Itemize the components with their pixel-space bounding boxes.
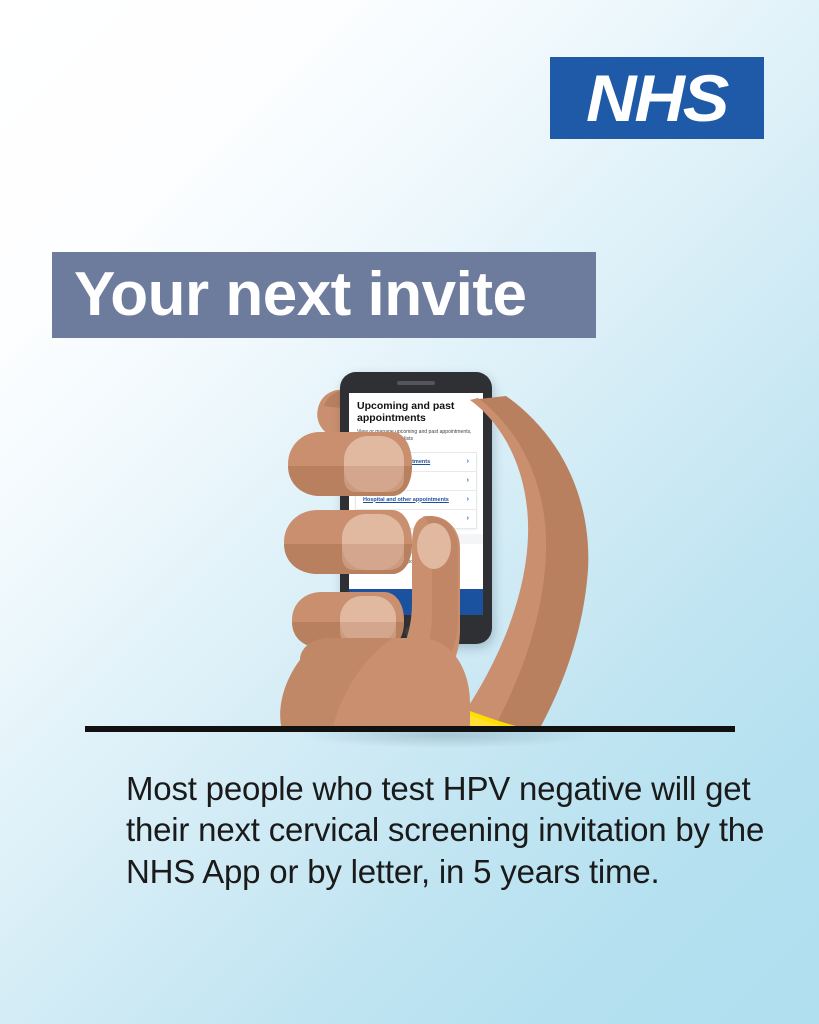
- app-row-label: Hospital and other appointments: [363, 497, 449, 503]
- body-paragraph: Most people who test HPV negative will g…: [126, 768, 766, 892]
- nav-item-messages[interactable]: ✉ Messages: [440, 596, 456, 609]
- smartphone: Upcoming and past appointments View or m…: [340, 372, 492, 644]
- app-screen-subtitle: View or manage upcoming and past appoint…: [357, 429, 475, 444]
- list-item[interactable]: GP surgery appointments ›: [356, 453, 476, 472]
- nhs-logo: NHS: [550, 57, 764, 139]
- chevron-right-icon: ›: [467, 515, 469, 522]
- app-section-divider: [349, 534, 483, 544]
- app-lower-text: Not available for all appointments and o…: [357, 559, 475, 573]
- ground-line: [85, 726, 735, 732]
- hand-holding-phone-illustration: Upcoming and past appointments View or m…: [0, 330, 819, 750]
- app-screen-title: Upcoming and past appointments: [357, 400, 475, 425]
- list-item[interactable]: Referrals ›: [356, 472, 476, 491]
- phone-speaker-grille: [397, 381, 435, 385]
- chevron-right-icon: ›: [467, 458, 469, 465]
- phone-home-button: [405, 626, 427, 638]
- app-lower-section: Appointments Not available for all appoi…: [349, 544, 483, 575]
- heart-icon: ♥: [382, 596, 387, 604]
- nav-item-label: Messages: [440, 605, 456, 609]
- chevron-right-icon: ›: [467, 477, 469, 484]
- list-item[interactable]: Hospital and other appointments ›: [356, 491, 476, 510]
- list-item[interactable]: Waiting lists ›: [356, 510, 476, 528]
- app-lower-heading: Appointments: [357, 550, 475, 556]
- title-banner: Your next invite: [52, 252, 596, 338]
- poster-canvas: NHS Your next invite Upcoming and past a…: [0, 0, 819, 1024]
- palm-shading: [280, 638, 392, 730]
- page-title: Your next invite: [74, 264, 527, 326]
- palm-shape: [280, 638, 470, 730]
- nav-item-your-health[interactable]: ♥ Your health: [375, 596, 393, 609]
- app-row-label: Waiting lists: [363, 516, 395, 522]
- phone-screen: Upcoming and past appointments View or m…: [349, 393, 483, 615]
- unread-badge: [455, 594, 460, 599]
- app-link-list: GP surgery appointments › Referrals › Ho…: [355, 452, 477, 529]
- nav-item-label: Your health: [375, 605, 393, 609]
- app-row-label: Referrals: [363, 478, 387, 484]
- app-bottom-navigation: ♥ Your health ✉ Messages: [349, 589, 483, 615]
- app-header: Upcoming and past appointments View or m…: [349, 393, 483, 447]
- app-row-label: GP surgery appointments: [363, 459, 430, 465]
- envelope-icon: ✉: [445, 596, 452, 604]
- chevron-right-icon: ›: [467, 496, 469, 503]
- nhs-logo-text: NHS: [586, 65, 727, 131]
